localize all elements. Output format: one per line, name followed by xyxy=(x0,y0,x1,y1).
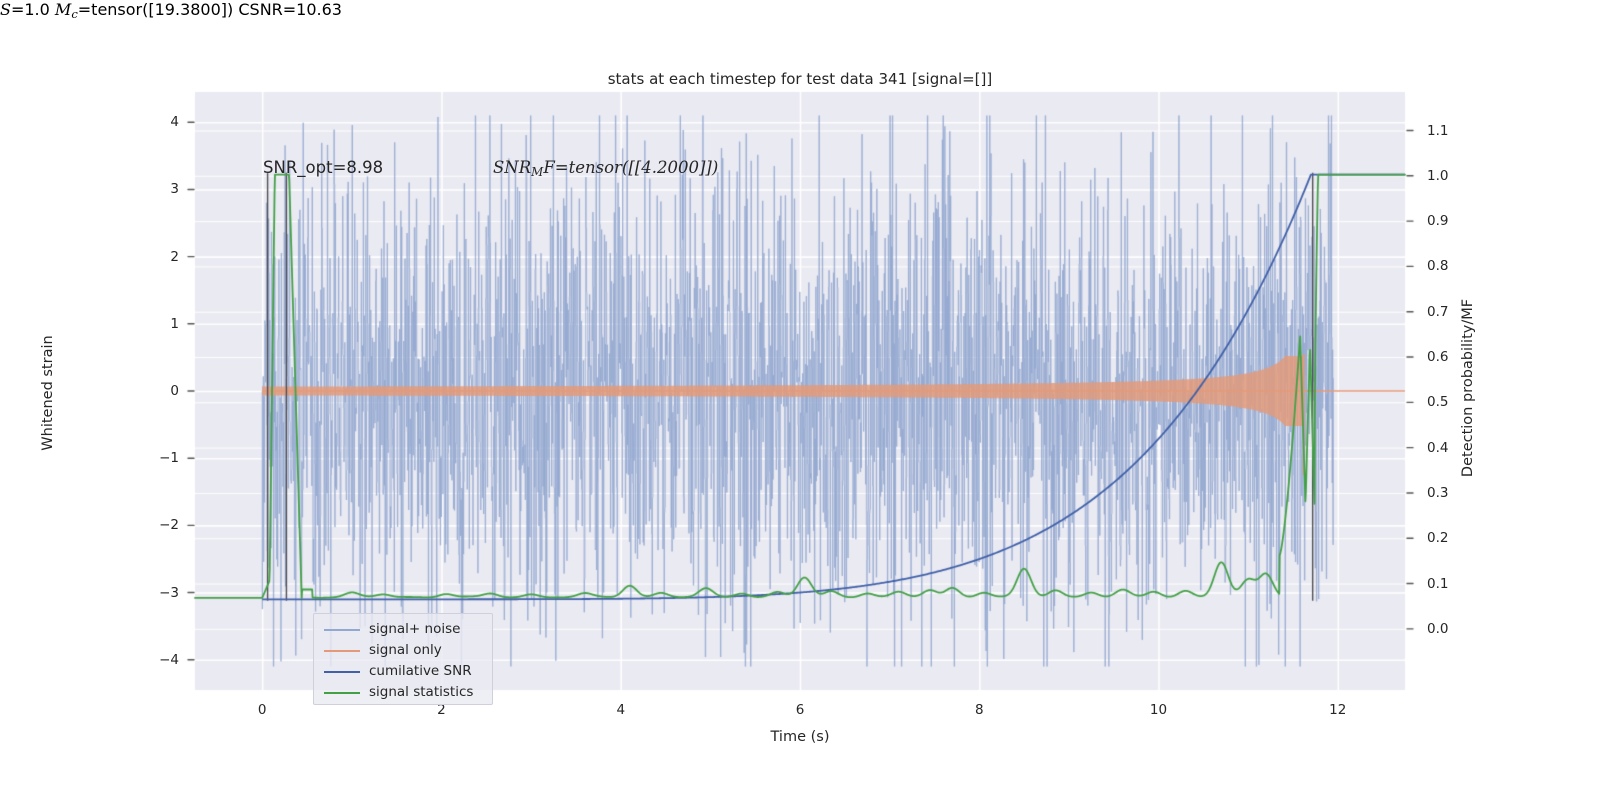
legend-color-swatch xyxy=(324,629,360,631)
ytick-labels-right-item: 0.3 xyxy=(1427,485,1487,501)
ytick-labels-right-item: 0.1 xyxy=(1427,576,1487,592)
annotation-snr-mf-subscript: M xyxy=(531,165,543,179)
xtick-labels-item: 6 xyxy=(770,702,830,718)
ytick-labels-right-item: 0.6 xyxy=(1427,349,1487,365)
stats-annotation-row: SNR_opt=8.98 SNRMF=tensor([[4.2000]]) xyxy=(195,158,1405,184)
ytick-labels-left-item: 0 xyxy=(119,383,179,399)
figure-container: stats at each timestep for test data 341… xyxy=(0,0,1600,800)
ytick-labels-right-item: 0.9 xyxy=(1427,213,1487,229)
annotation-snr-mf-symbol: SNR xyxy=(493,158,531,177)
ytick-labels-right-item: 0.8 xyxy=(1427,258,1487,274)
ytick-labels-left-item: 4 xyxy=(119,114,179,130)
ytick-labels-left-item: −2 xyxy=(119,517,179,533)
ytick-labels-left-item: −3 xyxy=(119,585,179,601)
legend-box[interactable]: signal+ noisesignal onlycumilative SNRsi… xyxy=(313,613,493,705)
annotation-snr-mf: SNRMF=tensor([[4.2000]]) xyxy=(493,158,718,179)
legend-item-label: cumilative SNR xyxy=(369,663,472,679)
legend-item[interactable]: signal only xyxy=(314,640,492,662)
ytick-labels-right-item: 1.0 xyxy=(1427,168,1487,184)
ytick-labels-left-item: 1 xyxy=(119,316,179,332)
ytick-labels-right-item: 0.7 xyxy=(1427,304,1487,320)
legend-color-swatch xyxy=(324,692,360,694)
legend-item[interactable]: signal statistics xyxy=(314,682,492,704)
legend-color-swatch xyxy=(324,650,360,652)
legend-item[interactable]: cumilative SNR xyxy=(314,661,492,683)
ytick-labels-right-item: 0.0 xyxy=(1427,621,1487,637)
ytick-labels-right-item: 0.4 xyxy=(1427,440,1487,456)
legend-item[interactable]: signal+ noise xyxy=(314,619,492,641)
legend-item-label: signal+ noise xyxy=(369,621,460,637)
xtick-labels-item: 10 xyxy=(1129,702,1189,718)
y-axis-label-left: Whitened strain xyxy=(40,293,56,493)
page-title: stats at each timestep for test data 341… xyxy=(0,70,1600,88)
ytick-labels-left-item: −1 xyxy=(119,450,179,466)
legend-color-swatch xyxy=(324,671,360,673)
ytick-labels-left-item: −4 xyxy=(119,652,179,668)
ytick-labels-left-item: 2 xyxy=(119,249,179,265)
ytick-labels-right-item: 0.5 xyxy=(1427,394,1487,410)
annotation-snr-mf-rest: F=tensor([[4.2000]]) xyxy=(543,158,718,177)
xtick-labels-item: 8 xyxy=(949,702,1009,718)
xtick-labels-item: 4 xyxy=(591,702,651,718)
ytick-labels-right-item: 0.2 xyxy=(1427,530,1487,546)
plot-canvas xyxy=(0,0,1600,800)
xtick-labels-item: 0 xyxy=(232,702,292,718)
annotation-snr-opt: SNR_opt=8.98 xyxy=(263,158,383,177)
legend-item-label: signal statistics xyxy=(369,684,473,700)
ytick-labels-left-item: 3 xyxy=(119,181,179,197)
ytick-labels-right-item: 1.1 xyxy=(1427,123,1487,139)
legend-item-label: signal only xyxy=(369,642,442,658)
xtick-labels-item: 12 xyxy=(1308,702,1368,718)
x-axis-label: Time (s) xyxy=(0,729,1600,745)
